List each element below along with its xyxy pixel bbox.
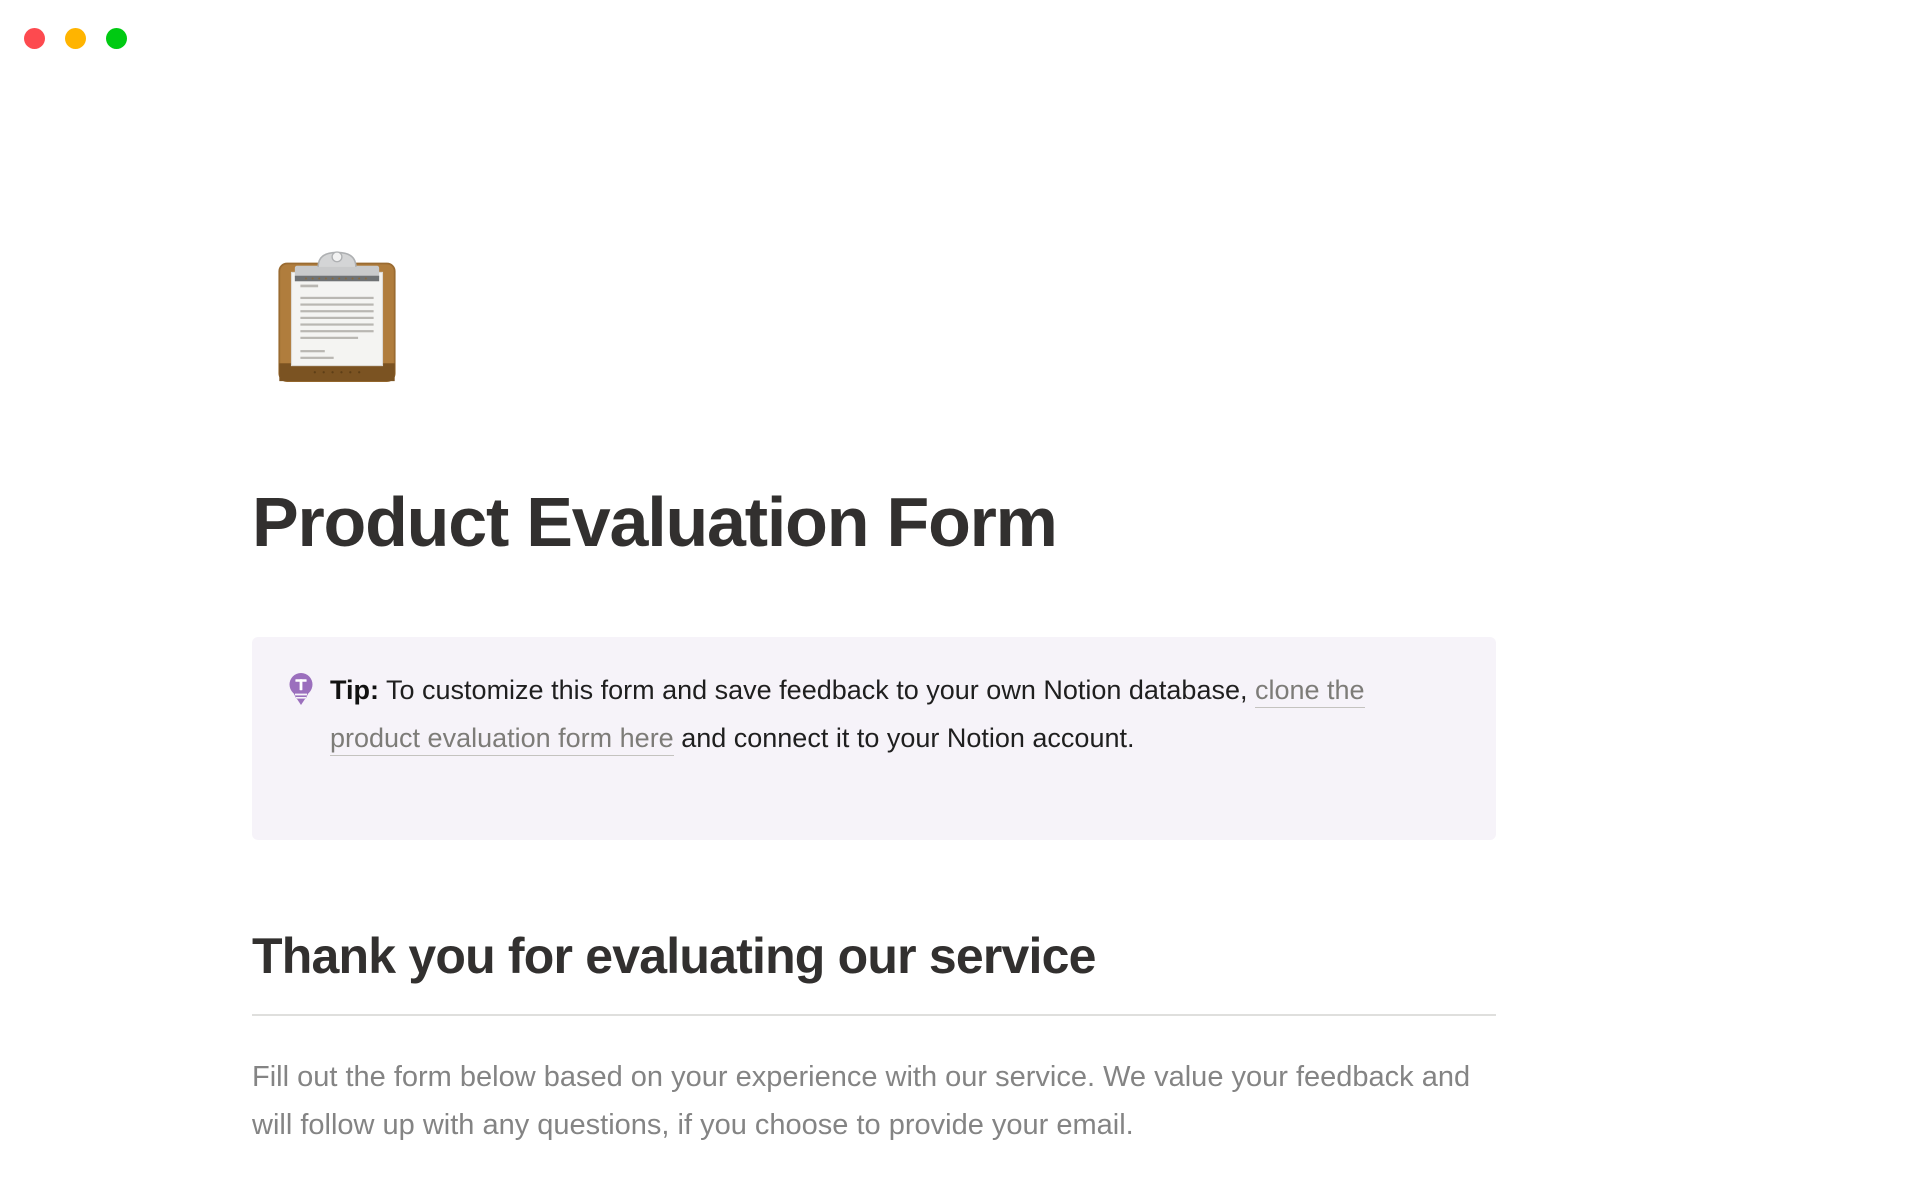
section-paragraph: Fill out the form below based on your ex… xyxy=(252,1053,1482,1149)
document-page: Product Evaluation Form Tip: To customiz… xyxy=(0,0,1920,1200)
tip-lightbulb-icon xyxy=(286,671,316,707)
section-heading: Thank you for evaluating our service xyxy=(252,925,1096,987)
tip-text-before-link: To customize this form and save feedback… xyxy=(379,675,1255,705)
clipboard-emoji[interactable] xyxy=(266,248,408,390)
page-title: Product Evaluation Form xyxy=(252,480,1057,564)
heading-divider xyxy=(252,1014,1496,1016)
tip-callout-text: Tip: To customize this form and save fee… xyxy=(330,666,1462,762)
tip-label: Tip: xyxy=(330,675,379,705)
tip-callout: Tip: To customize this form and save fee… xyxy=(252,637,1496,840)
tip-text-after-link: and connect it to your Notion account. xyxy=(674,723,1135,753)
